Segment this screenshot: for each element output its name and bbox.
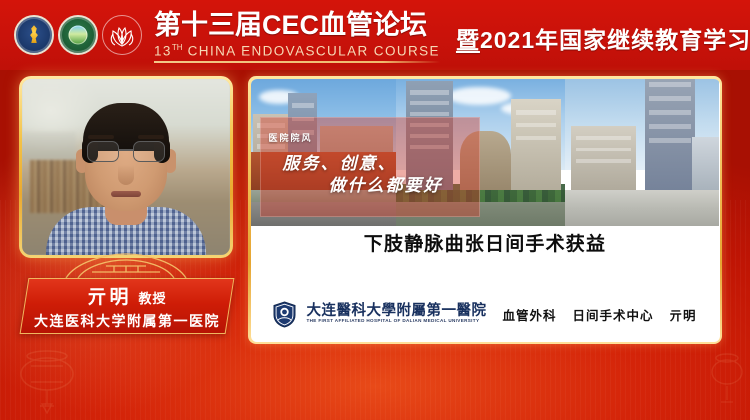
speaker-video-frame[interactable] [19,76,233,258]
presentation-slide[interactable]: 医院院风 服务、创意、 做什么都要好 下肢静脉曲张日间手术获益 大连醫科大學 [251,79,720,342]
speaker-name-row: 亓明 教授 [87,282,166,309]
event-title-block: 第十三届CEC血管论坛 13TH CHINA ENDOVASCULAR COUR… [154,11,440,59]
event-header-banner: 第十三届CEC血管论坛 13TH CHINA ENDOVASCULAR COUR… [0,0,750,70]
slide-title: 下肢静脉曲张日间手术获益 [251,229,720,256]
broadcast-screen: 第十三届CEC血管论坛 13TH CHINA ENDOVASCULAR COUR… [0,0,750,420]
presenter-mouth [111,191,141,197]
lantern-watermark-left [18,348,76,419]
dalian-medical-university-emblem-icon [14,15,54,55]
department-name: 血管外科 [502,305,556,324]
speaker-name: 亓明 [87,282,131,309]
lantern-watermark-right [710,352,744,417]
event-title-english: 13TH CHINA ENDOVASCULAR COURSE [154,40,440,59]
event-subtitle-prefix: 暨 [456,27,480,53]
speaker-video-feed[interactable] [22,79,230,255]
slide-footer: 大连醫科大學附屬第一醫院 THE FIRST AFFILIATED HOSPIT… [251,301,720,328]
event-title-chinese: 第十三届CEC血管论坛 [154,11,440,39]
glasses-lens-right [133,141,165,162]
speaker-nameplate: 亓明 教授 大连医科大学附属第一医院 [20,278,235,334]
glasses-lens-left [87,141,119,162]
event-title-english-num: 13 [154,44,172,59]
hospital-green-emblem-icon [58,15,98,55]
title-underline-rule [154,61,440,63]
photo3-low-building [571,126,636,191]
photo3-tower [645,79,695,191]
day-surgery-center-name: 日间手术中心 [572,305,653,324]
cec-lotus-emblem-icon [102,15,142,55]
hospital-name-english: THE FIRST AFFILIATED HOSPITAL OF DALIAN … [306,319,486,324]
presenter-nose [118,165,134,185]
hospital-shield-logo-icon [273,301,296,328]
event-title-english-ordinal: TH [172,43,183,52]
organizer-logo-group [14,15,142,55]
slide-overlay-label: 医院院风 [269,131,313,144]
slide-slogan-line-2: 做什么都要好 [329,171,443,196]
presentation-slide-frame[interactable]: 医院院风 服务、创意、 做什么都要好 下肢静脉曲张日间手术获益 大连醫科大學 [248,76,722,344]
presenter-figure [22,79,230,255]
event-title-english-rest: CHINA ENDOVASCULAR COURSE [188,44,440,59]
hospital-name-block: 大连醫科大學附屬第一醫院 THE FIRST AFFILIATED HOSPIT… [306,304,486,324]
photo2-white-building [511,99,562,190]
event-subtitle-rest: 2021年国家继续教育学习班 [480,27,750,53]
presenter-eyebrow-left [88,135,114,139]
glasses-bridge [119,149,133,151]
event-subtitle: 暨2021年国家继续教育学习班 [456,15,750,55]
photo3-glass-entrance [692,137,720,190]
hospital-name-chinese: 大连醫科大學附屬第一醫院 [306,304,486,319]
photo3-plaza [565,190,720,225]
footer-presenter-name: 亓明 [670,305,697,324]
slide-hospital-photo-banner: 医院院风 服务、创意、 做什么都要好 [251,79,720,226]
speaker-academic-title: 教授 [139,288,167,307]
presenter-glasses-icon [87,141,165,163]
presenter-eyebrow-right [138,135,164,139]
speaker-organization: 大连医科大学附属第一医院 [34,311,220,331]
hospital-photo-3 [565,79,720,226]
